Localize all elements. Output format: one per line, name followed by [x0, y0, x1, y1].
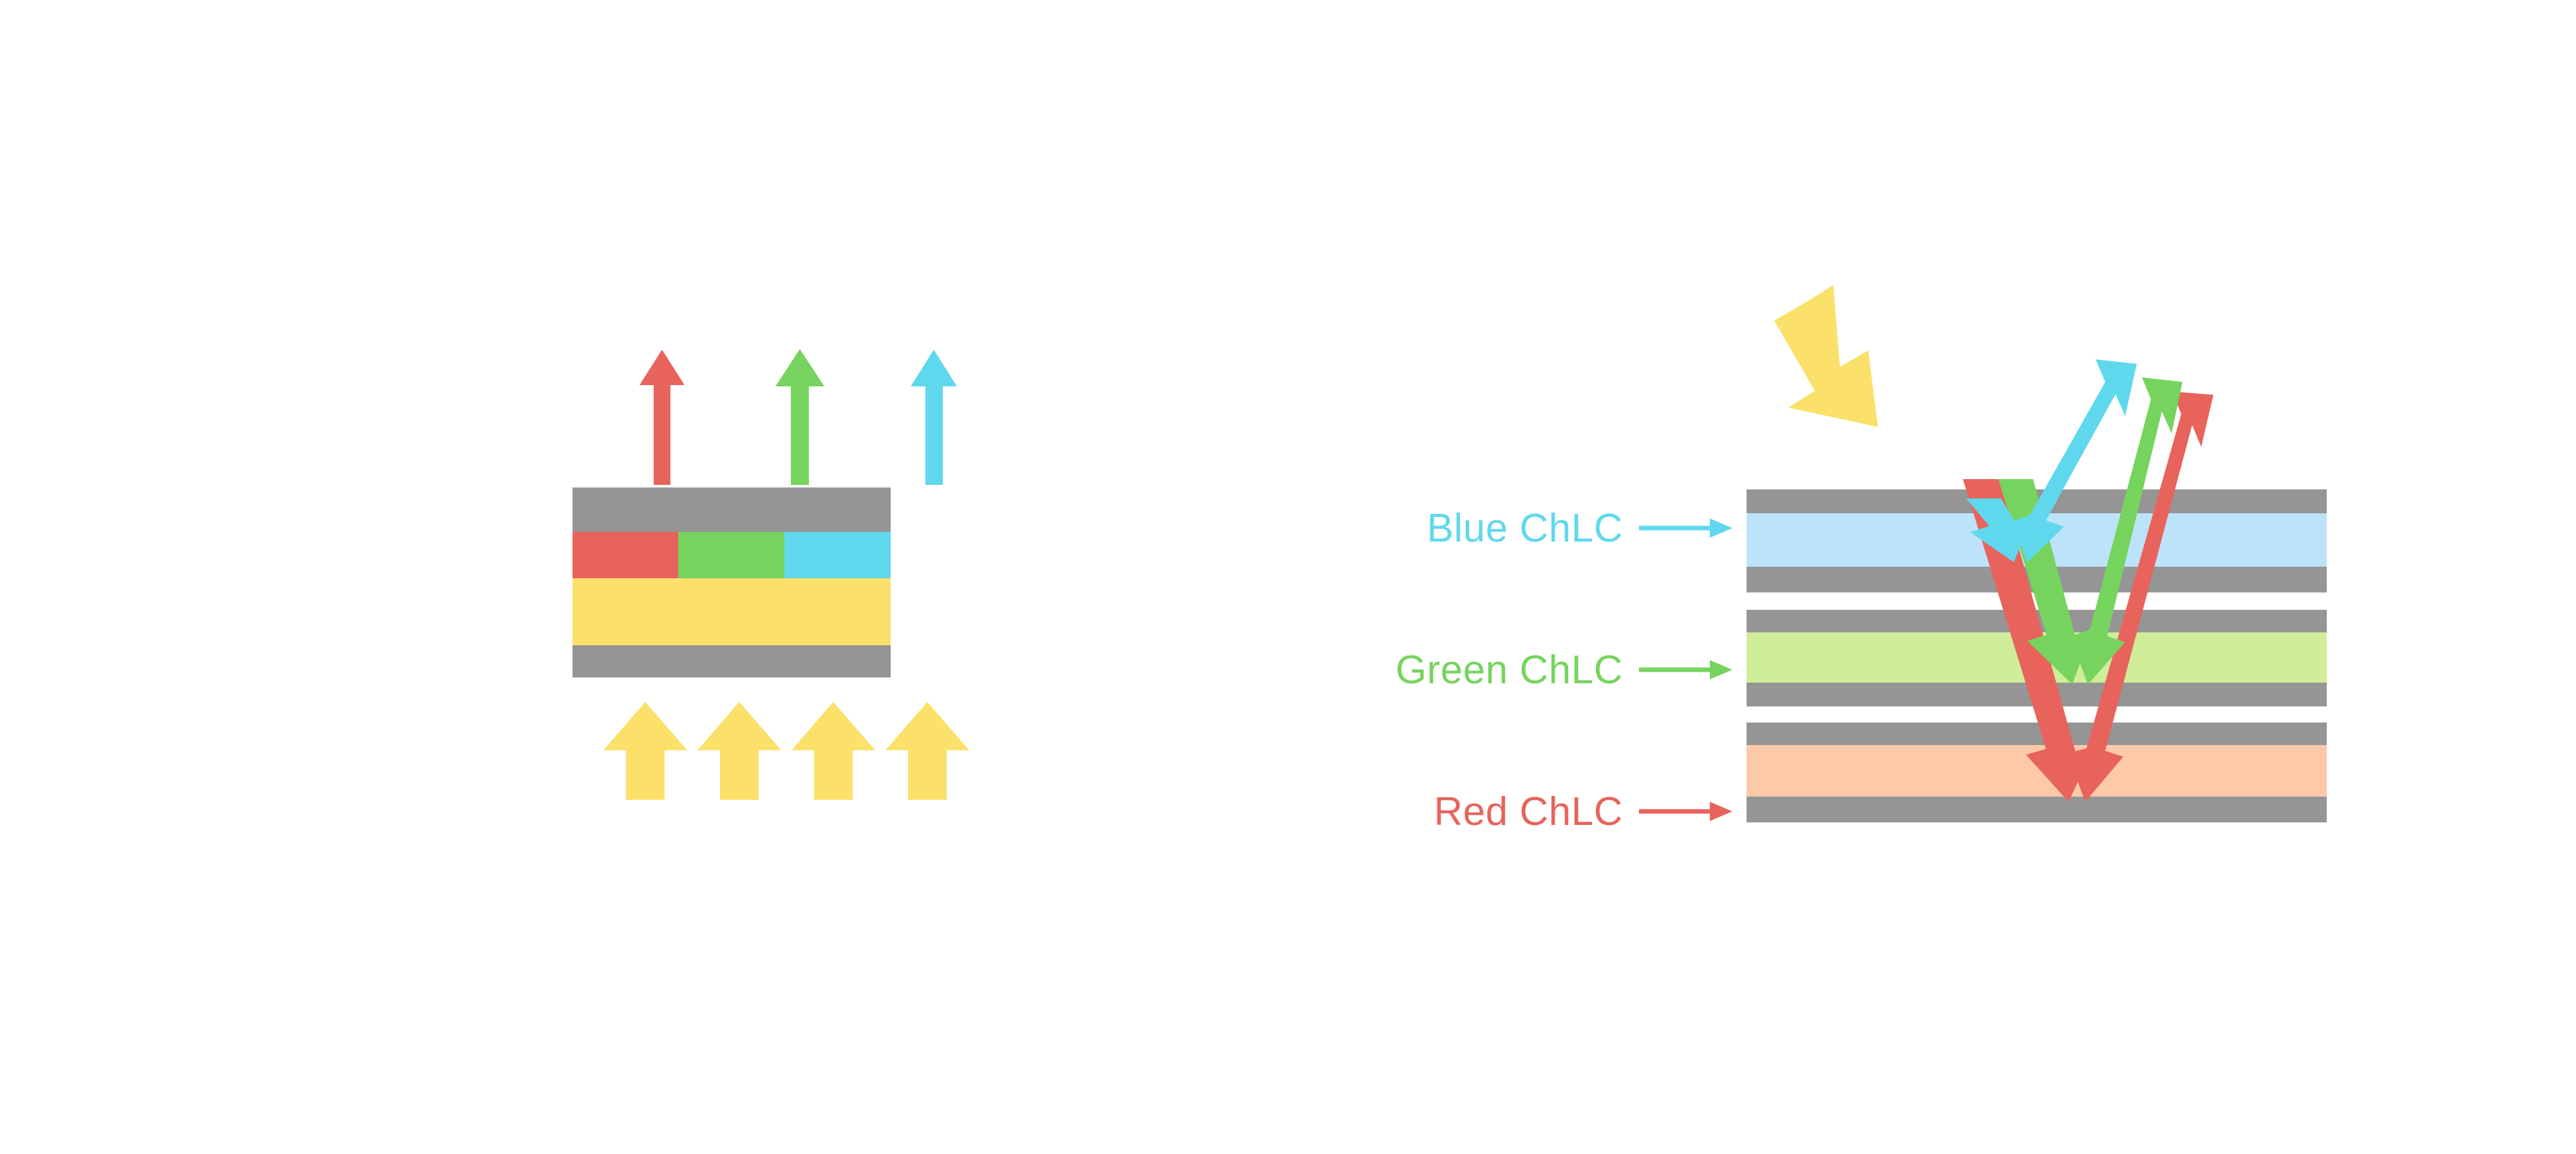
blue-chlc-label: Blue ChLC	[1327, 506, 1623, 551]
green-emission-arrow	[775, 349, 824, 485]
red-chlc-leader-arrow	[1639, 802, 1732, 821]
green-chlc-leader-arrow	[1639, 660, 1732, 679]
figure-canvas: Blue ChLC Green ChLC Red ChLC	[0, 0, 2576, 1154]
yellow-backlight-layer	[573, 578, 891, 645]
backlight-arrow-1	[603, 702, 687, 800]
red-emission-arrow	[639, 350, 685, 485]
right-panel-reflective-chlc-stack: Blue ChLC Green ChLC Red ChLC	[1288, 0, 2576, 1154]
blue-subpixel-filter	[784, 532, 891, 578]
blue-chlc-leader-arrow	[1639, 518, 1732, 538]
red-subpixel-filter	[573, 532, 678, 578]
bottom-electrode-layer	[573, 645, 891, 677]
green-subpixel-filter	[678, 532, 784, 578]
green-chlc-label: Green ChLC	[1327, 647, 1623, 693]
display-stack	[573, 487, 891, 677]
backlight-arrow-3	[791, 702, 875, 800]
red-cell-bottom-substrate	[1747, 797, 2327, 822]
left-panel-transmissive-display	[0, 0, 1288, 1154]
backlight-arrow-4	[885, 702, 969, 800]
cyan-emission-arrow	[911, 350, 957, 485]
incident-white-light-arrow	[1774, 285, 1878, 427]
red-cell-top-substrate	[1747, 723, 2327, 745]
red-chlc-label: Red ChLC	[1327, 789, 1623, 835]
backlight-arrow-2	[697, 702, 781, 800]
top-electrode-layer	[573, 487, 891, 532]
